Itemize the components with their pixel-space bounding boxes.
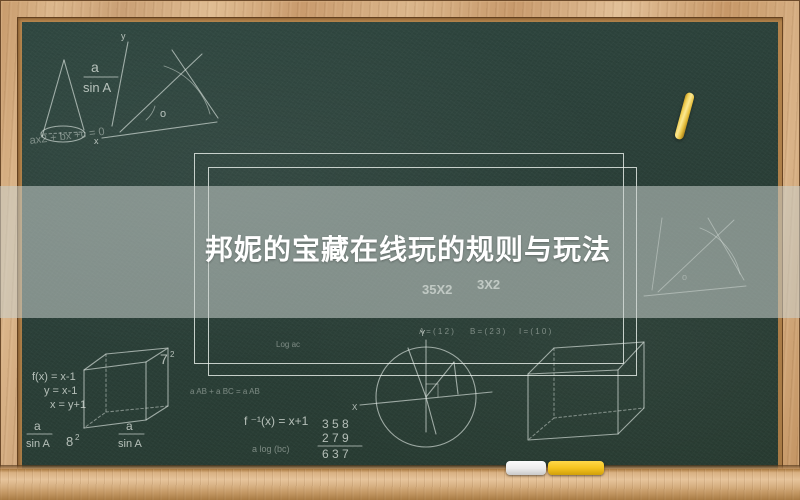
chalk-stick-on-tray (548, 461, 604, 475)
chalk-formula-sinA-2: sin A (26, 438, 51, 450)
cube-drawing-left (84, 348, 168, 428)
chalk-formula-a: a (91, 59, 99, 75)
chalk-inverse-function: f ⁻¹(x) = x+1 (244, 414, 309, 428)
chalk-matrix-a: A = ( 1 2 ) (419, 327, 454, 336)
chalk-matrix-b: B = ( 2 3 ) (470, 327, 506, 336)
chalk-formula-a-2: a (34, 419, 41, 433)
chalk-seven-base: 7 (160, 351, 168, 367)
chalk-matrix-i: I = ( 1 0 ) (519, 327, 552, 336)
chalk-digits-row-3: 6 3 7 (322, 447, 349, 461)
circle-axes-drawing: Y X (352, 329, 492, 447)
chalk-eight-base: 8 (66, 434, 73, 449)
chalk-eight-exponent: 2 (75, 433, 80, 442)
chalk-x-equation: x = y+1 (50, 399, 86, 411)
chalk-formula-a-3: a (126, 419, 133, 433)
chalk-mult-3x2: 3X2 (477, 277, 500, 292)
chalk-log-bc: a log (bc) (252, 444, 290, 454)
chalk-mult-35x2: 35X2 (422, 282, 452, 297)
chalk-formula-sinA: sin A (83, 80, 112, 95)
cube-drawing-right (528, 342, 644, 440)
matrix-notation-group: A = ( 1 2 ) B = ( 2 3 ) I = ( 1 0 ) (419, 327, 552, 336)
chalk-axis-y-label: y (121, 31, 126, 41)
chalk-seven-exponent: 2 (170, 350, 175, 359)
angle-axes-drawing: y x o (94, 31, 218, 146)
arithmetic-digits-group: 3 5 8 2 7 9 6 3 7 (318, 417, 362, 461)
chalk-digits-row-2: 2 7 9 (322, 431, 349, 445)
chalk-digits-row-1: 3 5 8 (322, 417, 349, 431)
board-eraser (506, 461, 546, 475)
chalkboard-banner: a sin A y x o ax2 + bx +c = 0 (0, 0, 800, 500)
function-equations-group: f(x) = x-1 y = x-1 x = y+1 (32, 371, 86, 411)
chalk-vector-identity: a AB + a BC = a AB (190, 387, 260, 396)
chalk-circle-axis-x: X (352, 403, 358, 412)
chalk-angle-label: o (160, 108, 166, 120)
chalk-tray (0, 469, 800, 500)
page-title: 邦妮的宝藏在线玩的规则与玩法 (205, 232, 765, 268)
chalk-formula-sinA-3: sin A (118, 438, 143, 450)
chalk-y-equation: y = x-1 (44, 385, 77, 397)
chalk-fx-equation: f(x) = x-1 (32, 371, 76, 383)
chalk-log-ac: Log ac (276, 340, 300, 349)
chalk-angle-label-right: o (682, 272, 687, 282)
